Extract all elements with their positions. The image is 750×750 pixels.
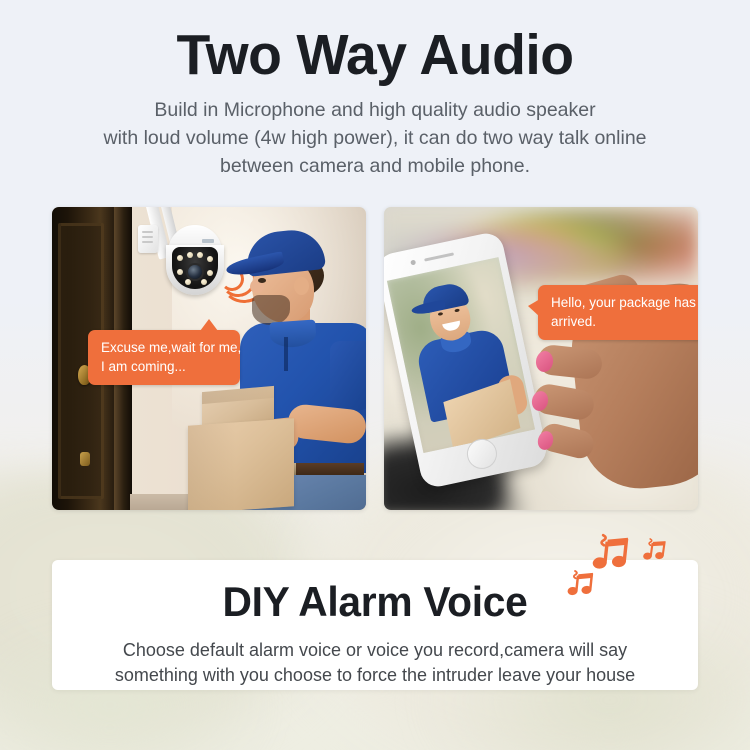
phone-earpiece: [424, 252, 454, 261]
subtitle-line-3: between camera and mobile phone.: [70, 152, 680, 180]
ir-led: [207, 256, 213, 262]
camera-junction-box: [138, 225, 158, 253]
speech-bubble-line-2: I am coming...: [101, 357, 227, 376]
ir-led: [197, 252, 203, 258]
page-title: Two Way Audio: [11, 24, 739, 86]
delivery-man-sleeve: [330, 341, 366, 411]
parcel-box-large: [188, 418, 294, 510]
photo-doorway-scene: Excuse me,wait for me, I am coming...: [52, 207, 366, 510]
ir-led: [201, 279, 207, 285]
delivery-man-eye: [258, 278, 266, 283]
delivery-man-placket: [284, 337, 288, 371]
speech-bubble-line-2: arrived.: [551, 312, 693, 331]
speech-bubble-phone: Hello, your package has arrived.: [538, 285, 698, 340]
speech-bubble-tail: [200, 319, 218, 331]
subtitle-line-2: with loud volume (4w high power), it can…: [70, 124, 680, 152]
card-subtitle: Choose default alarm voice or voice you …: [75, 638, 675, 688]
ir-led: [185, 279, 191, 285]
speech-bubble-camera: Excuse me,wait for me, I am coming...: [88, 330, 240, 385]
photo-row: Excuse me,wait for me, I am coming...: [52, 207, 698, 510]
phone-scene-illustration: [384, 207, 698, 510]
speech-bubble-line-1: Hello, your package has: [551, 293, 693, 312]
speech-bubble-tail: [528, 299, 540, 317]
card-subtitle-line-2: something with you choose to force the i…: [75, 663, 675, 688]
ir-led: [177, 269, 183, 275]
ir-led: [207, 270, 213, 276]
ir-led: [187, 252, 193, 258]
music-notes-decoration: [556, 528, 666, 608]
music-note-icon: [639, 537, 670, 568]
music-note-icon: [563, 569, 598, 604]
photo-phone-scene: Hello, your package has arrived.: [384, 207, 698, 510]
phone-front-camera: [410, 260, 416, 266]
ir-led: [177, 255, 183, 261]
subtitle-line-1: Build in Microphone and high quality aud…: [70, 96, 680, 124]
camera-lens: [188, 265, 202, 279]
speech-bubble-line-1: Excuse me,wait for me,: [101, 338, 227, 357]
page-subtitle: Build in Microphone and high quality aud…: [70, 96, 680, 180]
card-subtitle-line-1: Choose default alarm voice or voice you …: [75, 638, 675, 663]
promo-page: Two Way Audio Build in Microphone and hi…: [0, 0, 750, 750]
header-section: Two Way Audio Build in Microphone and hi…: [0, 24, 750, 180]
delivery-man-ear: [294, 277, 309, 295]
door-lock-icon: [80, 452, 90, 466]
